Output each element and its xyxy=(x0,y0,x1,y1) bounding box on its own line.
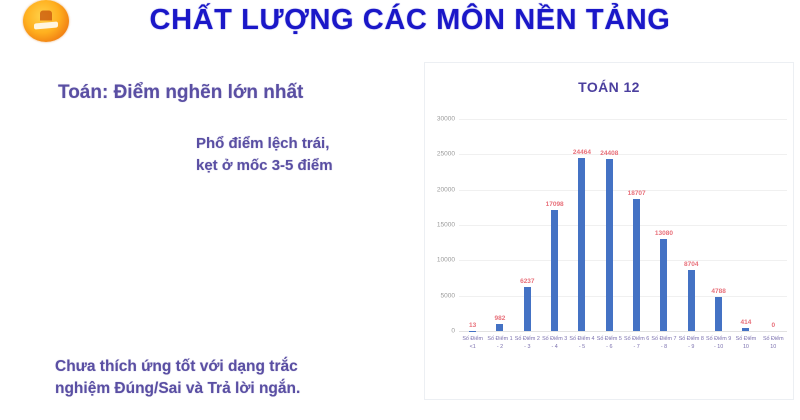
x-axis-tick-label: Số Điểm 2 - 3 xyxy=(514,335,541,391)
y-axis-tick-label: 10000 xyxy=(437,257,455,264)
chart-bar-value-label: 6237 xyxy=(520,278,534,285)
chart-bar-value-label: 13 xyxy=(469,322,476,329)
chart-bar-value-label: 414 xyxy=(741,319,752,326)
y-axis-tick-label: 20000 xyxy=(437,186,455,193)
chart-bar-slot: 24408 xyxy=(596,119,623,331)
chart-bar-slot: 17098 xyxy=(541,119,568,331)
chart-bar-slot: 13 xyxy=(459,119,486,331)
chart-bar xyxy=(633,199,640,331)
y-axis-tick-label: 5000 xyxy=(441,292,455,299)
chart-bar-value-label: 24408 xyxy=(600,150,618,157)
logo-top-shape xyxy=(40,10,52,20)
chart-bar-slot: 6237 xyxy=(514,119,541,331)
chart-bar xyxy=(715,297,722,331)
note-line-1: Phổ điểm lệch trái, xyxy=(196,133,333,155)
x-axis-tick-label: Số Điểm 1 - 2 xyxy=(486,335,513,391)
chart-bar-value-label: 17098 xyxy=(546,201,564,208)
chart-bar-slot: 18707 xyxy=(623,119,650,331)
x-axis-tick-label: Số Điểm 10 xyxy=(732,335,759,391)
chart-bar xyxy=(688,270,695,332)
chart-bar-slot: 24464 xyxy=(568,119,595,331)
chart-bar-slot: 13080 xyxy=(650,119,677,331)
chart-bar-value-label: 8704 xyxy=(684,261,698,268)
x-axis-tick-label: Số Điểm 9 - 10 xyxy=(705,335,732,391)
bottom-line-1: Chưa thích ứng tốt với dạng trắc xyxy=(55,356,300,378)
bottom-line-2: nghiệm Đúng/Sai và Trả lời ngắn. xyxy=(55,378,300,400)
x-axis-tick-label: Số Điểm 8 - 9 xyxy=(678,335,705,391)
chart-bar xyxy=(742,328,749,331)
chart-bar-value-label: 4788 xyxy=(711,288,725,295)
x-axis-tick-label: Số Điểm 7 - 8 xyxy=(650,335,677,391)
subject-headline: Toán: Điểm nghẽn lớn nhất xyxy=(58,80,303,106)
y-axis-tick-label: 15000 xyxy=(437,222,455,229)
chart-bar xyxy=(524,287,531,331)
page-title: CHẤT LƯỢNG CÁC MÔN NỀN TẢNG xyxy=(110,1,710,39)
chart-bar xyxy=(496,324,503,331)
chart-bar-slot: 0 xyxy=(760,119,787,331)
note-block: Phổ điểm lệch trái, kẹt ở mốc 3-5 điểm xyxy=(196,133,333,177)
slide-root: CHẤT LƯỢNG CÁC MÔN NỀN TẢNG Toán: Điểm n… xyxy=(0,0,800,420)
chart-bar xyxy=(578,158,585,331)
organization-logo xyxy=(23,0,69,42)
x-axis-tick-label: Số Điểm 10 xyxy=(760,335,787,391)
chart-bar xyxy=(551,210,558,331)
chart-bar-slot: 414 xyxy=(732,119,759,331)
logo-band-shape xyxy=(34,21,58,29)
y-axis-tick-label: 30000 xyxy=(437,116,455,123)
x-axis-tick-label: Số Điểm 4 - 5 xyxy=(568,335,595,391)
chart-bar-value-label: 982 xyxy=(495,315,506,322)
chart-panel: TOÁN 12 050001000015000200002500030000 1… xyxy=(424,62,794,400)
chart-bar xyxy=(606,159,613,331)
chart-bar-slot: 8704 xyxy=(678,119,705,331)
chart-plot-area: 050001000015000200002500030000 139826237… xyxy=(459,119,787,331)
chart-bar xyxy=(660,239,667,331)
chart-bars: 1398262371709824464244081870713080870447… xyxy=(459,119,787,331)
x-axis-tick-label: Số Điểm <1 xyxy=(459,335,486,391)
y-axis-tick-label: 25000 xyxy=(437,151,455,158)
chart-x-axis-labels: Số Điểm <1Số Điểm 1 - 2Số Điểm 2 - 3Số Đ… xyxy=(459,335,787,391)
x-axis-tick-label: Số Điểm 6 - 7 xyxy=(623,335,650,391)
x-axis-tick-label: Số Điểm 3 - 4 xyxy=(541,335,568,391)
chart-title: TOÁN 12 xyxy=(425,79,793,95)
note-line-2: kẹt ở mốc 3-5 điểm xyxy=(196,155,333,177)
y-axis-tick-label: 0 xyxy=(451,328,455,335)
chart-bar-value-label: 18707 xyxy=(628,190,646,197)
chart-bar-value-label: 0 xyxy=(771,322,775,329)
chart-bar-value-label: 13080 xyxy=(655,230,673,237)
gridline-0: 0 xyxy=(459,331,787,332)
chart-bar-slot: 4788 xyxy=(705,119,732,331)
x-axis-tick-label: Số Điểm 5 - 6 xyxy=(596,335,623,391)
chart-bar-slot: 982 xyxy=(486,119,513,331)
chart-bar-value-label: 24464 xyxy=(573,149,591,156)
bottom-note-block: Chưa thích ứng tốt với dạng trắc nghiệm … xyxy=(55,356,300,400)
logo-glyph xyxy=(31,9,61,33)
